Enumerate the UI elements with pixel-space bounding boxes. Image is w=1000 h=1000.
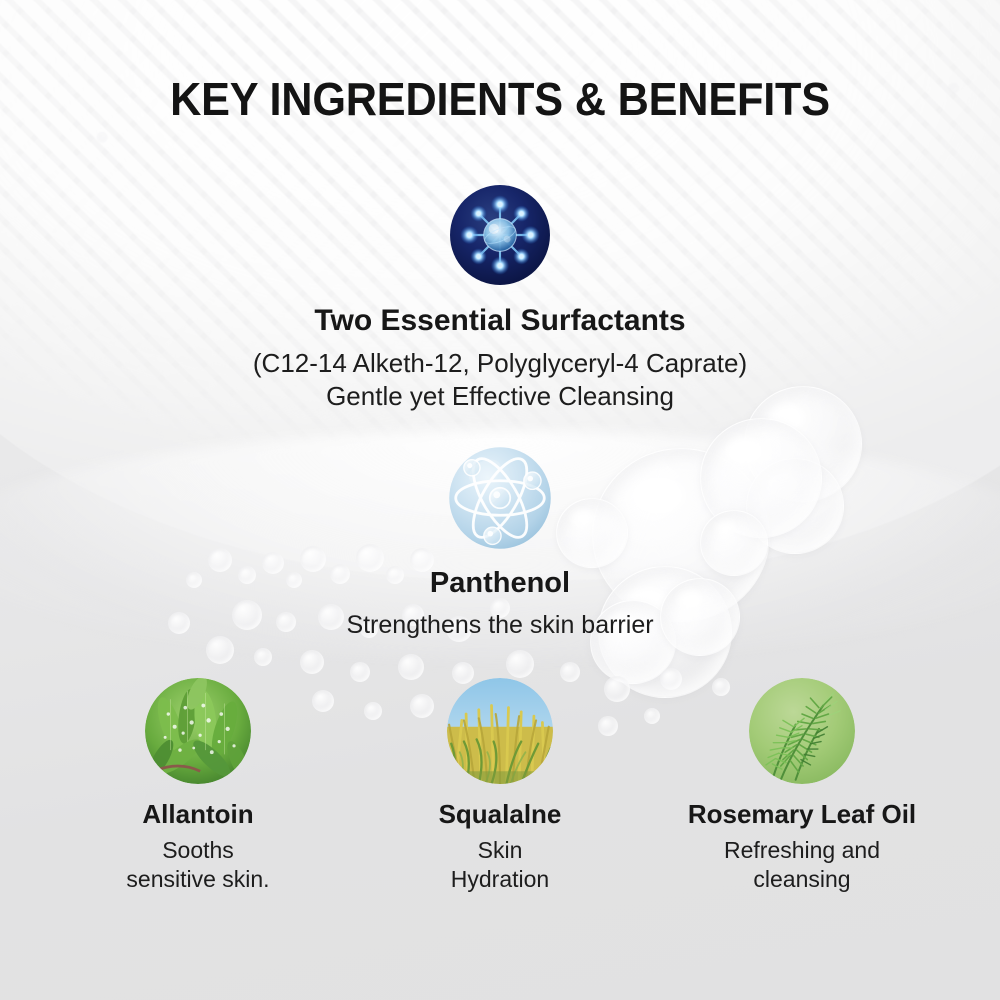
ingredient-description-line: Refreshing and [652,836,952,865]
ingredient-row-bottom: Allantoin Sooths sensitive skin. [48,678,952,894]
ingredient-name: Allantoin [48,800,348,829]
ingredient-description: Skin Hydration [350,836,650,894]
ingredient-block-allantoin: Allantoin Sooths sensitive skin. [48,678,348,894]
ingredient-description: (C12-14 Alketh-12, Polyglyceryl-4 Caprat… [0,347,1000,413]
ingredient-description-line: Gentle yet Effective Cleansing [0,380,1000,413]
ingredient-block-surfactants: Two Essential Surfactants (C12-14 Alketh… [0,184,1000,413]
ingredients-infographic: KEY INGREDIENTS & BENEFITS [0,0,1000,1000]
ingredient-block-squalane: Squalalne Skin Hydration [350,678,650,894]
ingredient-description-line: Skin [350,836,650,865]
page-title: KEY INGREDIENTS & BENEFITS [30,72,970,126]
ingredient-description-line: Sooths [48,836,348,865]
ingredient-description-line: sensitive skin. [48,865,348,894]
ingredient-description: Sooths sensitive skin. [48,836,348,894]
ingredient-name: Two Essential Surfactants [0,304,1000,337]
ingredient-block-rosemary: Rosemary Leaf Oil Refreshing and cleansi… [652,678,952,894]
atom-panthenol-icon [446,444,554,552]
ingredient-description: Strengthens the skin barrier [0,610,1000,642]
comfrey-leaves-icon [145,678,251,784]
ingredient-block-panthenol: Panthenol Strengthens the skin barrier [0,444,1000,641]
ingredient-name: Rosemary Leaf Oil [652,800,952,829]
ingredient-description-line: Hydration [350,865,650,894]
sugarcane-field-icon [447,678,553,784]
ingredient-description-line: cleansing [652,865,952,894]
molecule-surfactant-icon [449,184,551,286]
ingredient-description-line: (C12-14 Alketh-12, Polyglyceryl-4 Caprat… [0,347,1000,380]
ingredient-name: Panthenol [0,568,1000,600]
ingredient-name: Squalalne [350,800,650,829]
ingredient-description: Refreshing and cleansing [652,836,952,894]
rosemary-sprig-icon [749,678,855,784]
